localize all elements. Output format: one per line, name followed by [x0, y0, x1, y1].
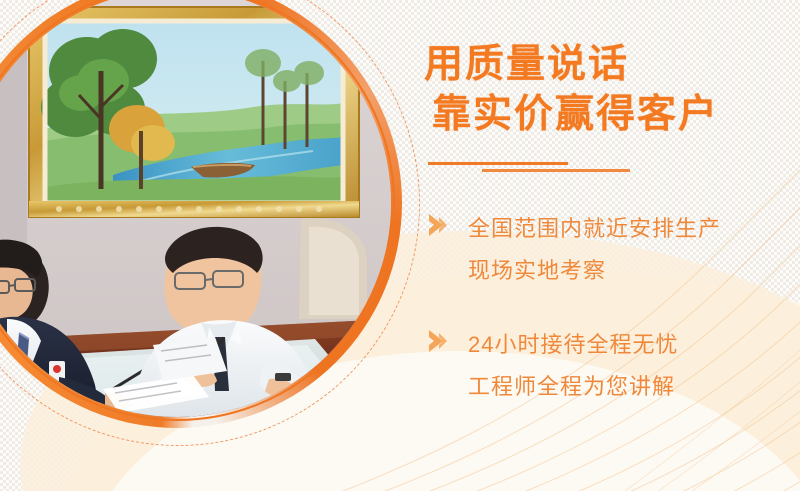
list-item: 24小时接待全程无忧 工程师全程为您讲解: [424, 324, 800, 408]
feature-line-2: 现场实地考察: [468, 250, 800, 292]
divider-line-top: [428, 162, 568, 165]
promo-banner: 用质量说话 靠实价赢得客户 全国范围内就近安排生产 现场实地考察: [0, 0, 800, 491]
chevron-right-icon: [426, 212, 450, 238]
banner-content: 用质量说话 靠实价赢得客户 全国范围内就近安排生产 现场实地考察: [424, 40, 800, 408]
photo-circle: [0, 0, 402, 428]
list-item: 全国范围内就近安排生产 现场实地考察: [424, 208, 800, 292]
feature-line-2: 工程师全程为您讲解: [468, 366, 800, 408]
headline-line-2: 靠实价赢得客户: [432, 90, 800, 140]
divider-line-bottom: [482, 169, 630, 172]
feature-list: 全国范围内就近安排生产 现场实地考察 24小时接待全程无忧 工程师全程为您讲解: [424, 208, 800, 408]
feature-line-1: 24小时接待全程无忧: [468, 324, 800, 366]
headline-divider: [424, 158, 800, 182]
feature-line-1: 全国范围内就近安排生产: [468, 208, 800, 250]
chevron-right-icon: [426, 328, 450, 354]
headline: 用质量说话 靠实价赢得客户: [424, 40, 800, 140]
headline-line-1: 用质量说话: [424, 40, 800, 90]
